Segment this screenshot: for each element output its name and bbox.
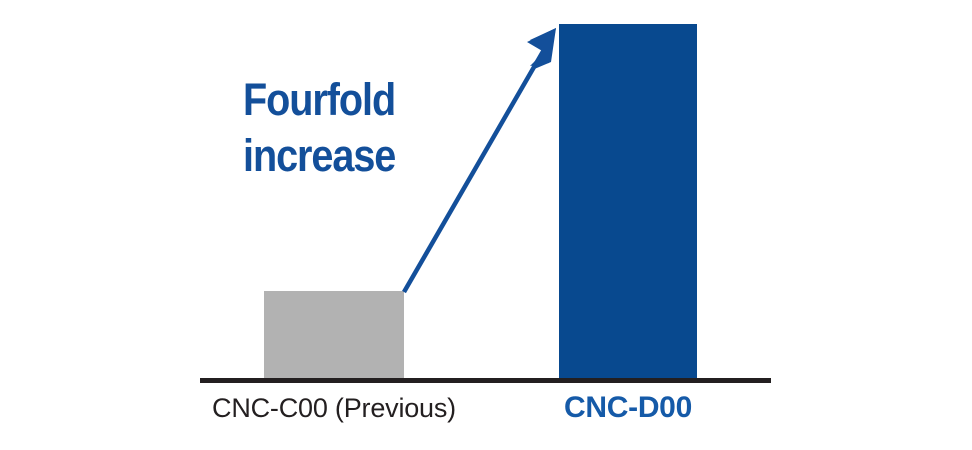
bar-chart-figure: Fourfold increase CNC-C00 (Previous) CNC… [0, 0, 972, 450]
category-label-cnc-c00-previous: CNC-C00 (Previous) [194, 392, 474, 424]
bar-cnc-d00 [559, 24, 697, 378]
annotation-line-1: Fourfold [243, 72, 445, 128]
annotation-line-2: increase [243, 128, 445, 184]
category-label-cnc-d00: CNC-D00 [508, 392, 748, 424]
x-axis-baseline [200, 378, 771, 383]
bar-cnc-c00-previous [264, 291, 404, 378]
fourfold-increase-annotation: Fourfold increase [243, 72, 445, 184]
